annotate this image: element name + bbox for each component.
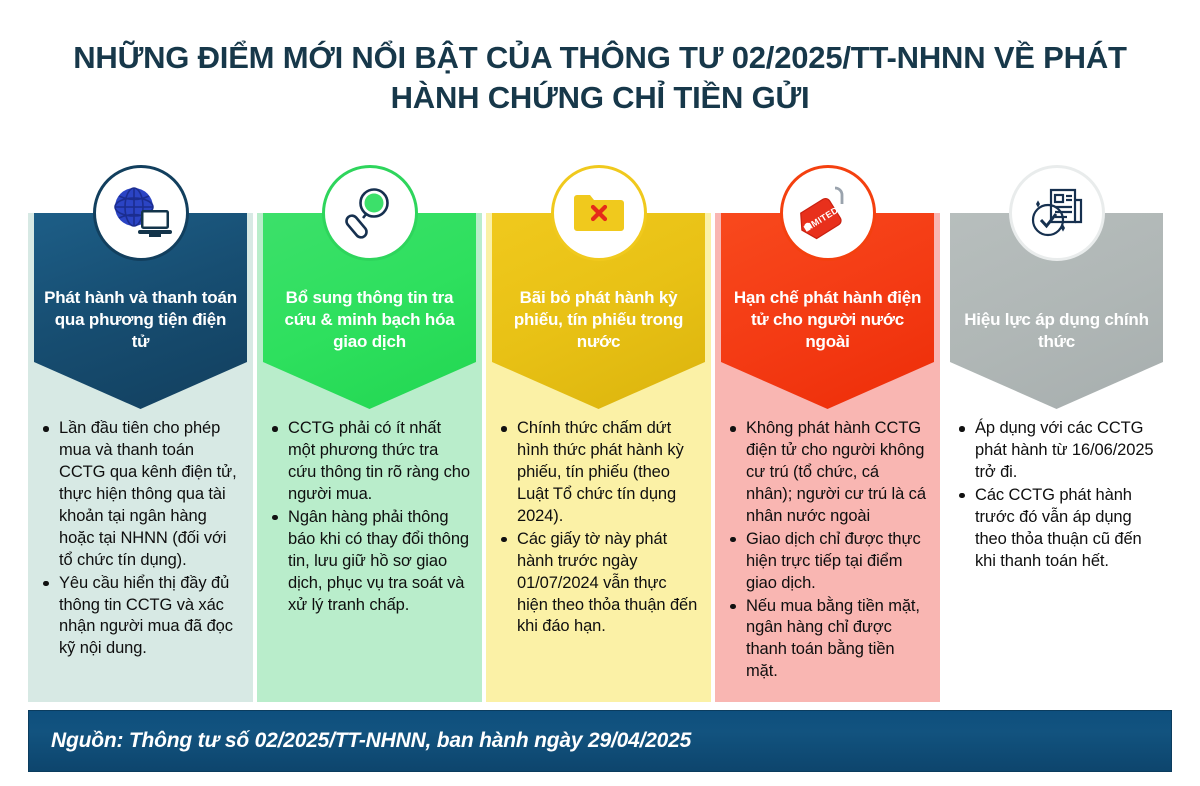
bullet-list: Áp dụng với các CCTG phát hành từ 16/06/… [952,418,1157,573]
source-footer-bar: Nguồn: Thông tư số 02/2025/TT-NHNN, ban … [28,710,1172,772]
list-item: Yêu cầu hiển thị đầy đủ thông tin CCTG v… [36,573,241,661]
column-abolish-promissory-notes: Chính thức chấm dứt hình thức phát hành … [486,165,711,702]
globe-laptop-icon [93,165,189,261]
columns-container: Lần đầu tiên cho phép mua và thanh toán … [28,165,1172,702]
bullet-list: Chính thức chấm dứt hình thức phát hành … [494,418,699,638]
magnifier-icon [322,165,418,261]
list-item: Các CCTG phát hành trước đó vẫn áp dụng … [952,485,1157,573]
source-text: Nguồn: Thông tư số 02/2025/TT-NHNN, ban … [29,729,691,753]
list-item: CCTG phải có ít nhất một phương thức tra… [265,418,470,506]
list-item: Các giấy tờ này phát hành trước ngày 01/… [494,529,699,639]
folder-x-icon [551,165,647,261]
list-item: Chính thức chấm dứt hình thức phát hành … [494,418,699,528]
list-item: Lần đầu tiên cho phép mua và thanh toán … [36,418,241,572]
list-item: Không phát hành CCTG điện tử cho người k… [723,418,928,528]
bullet-list: CCTG phải có ít nhất một phương thức tra… [265,418,470,616]
infographic-page: NHỮNG ĐIỂM MỚI NỔI BẬT CỦA THÔNG TƯ 02/2… [0,0,1200,786]
column-electronic-issuance: Lần đầu tiên cho phép mua và thanh toán … [28,165,253,702]
column-foreigner-restriction: Không phát hành CCTG điện tử cho người k… [715,165,940,702]
column-effective-date: Áp dụng với các CCTG phát hành từ 16/06/… [944,165,1169,702]
column-lookup-transparency: CCTG phải có ít nhất một phương thức tra… [257,165,482,702]
list-item: Áp dụng với các CCTG phát hành từ 16/06/… [952,418,1157,484]
limited-price-tag-icon: LIMITED [780,165,876,261]
list-item: Giao dịch chỉ được thực hiện trực tiếp t… [723,529,928,595]
list-item: Ngân hàng phải thông báo khi có thay đổi… [265,507,470,617]
bullet-list: Lần đầu tiên cho phép mua và thanh toán … [36,418,241,660]
document-check-icon [1009,165,1105,261]
list-item: Nếu mua bằng tiền mặt, ngân hàng chỉ đượ… [723,596,928,684]
bullet-list: Không phát hành CCTG điện tử cho người k… [723,418,928,683]
page-title: NHỮNG ĐIỂM MỚI NỔI BẬT CỦA THÔNG TƯ 02/2… [60,38,1140,117]
